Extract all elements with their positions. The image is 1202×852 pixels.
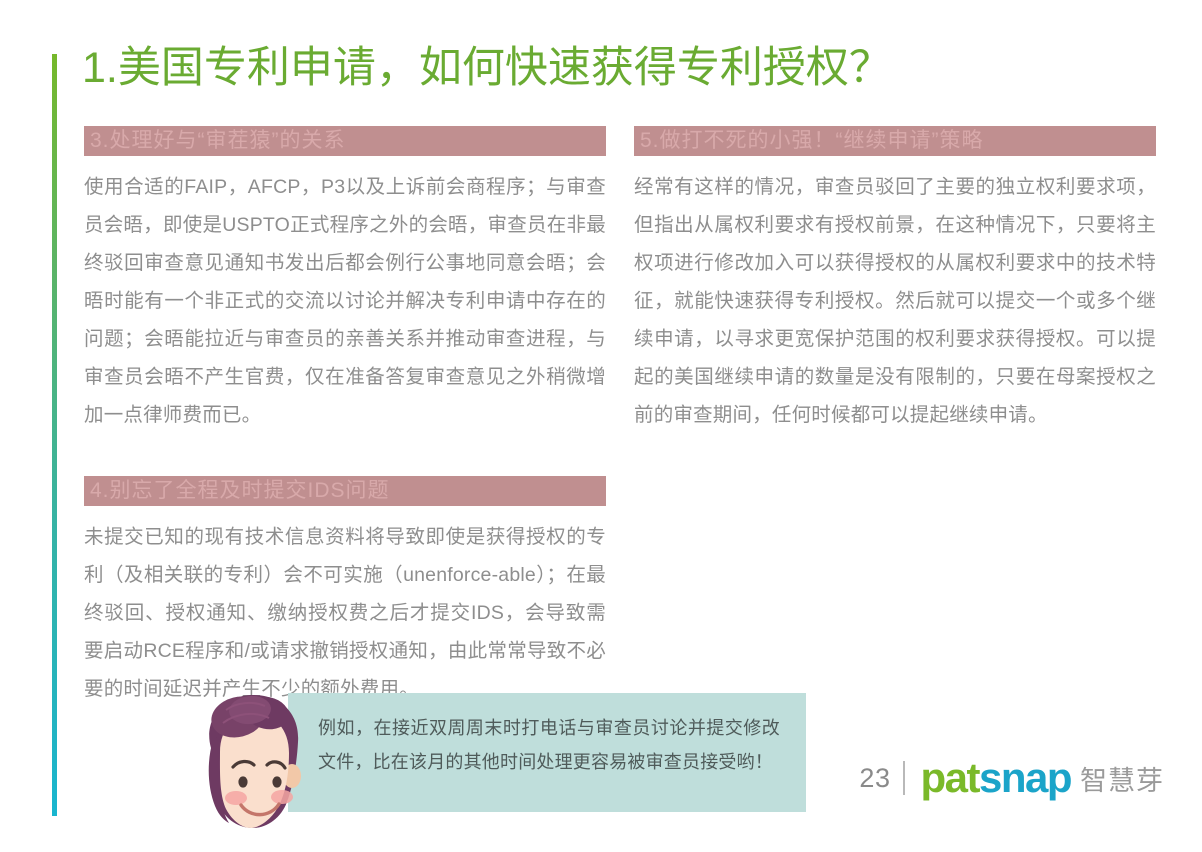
cartoon-woman-face-icon [193,690,313,845]
logo-chinese-name: 智慧芽 [1080,759,1164,798]
section-body-4: 未提交已知的现有技术信息资料将导致即使是获得授权的专利（及相关联的专利）会不可实… [84,518,606,708]
section-body-3: 使用合适的FAIP，AFCP，P3以及上诉前会商程序；与审查员会晤，即使是USP… [84,168,606,434]
footer-divider [903,761,905,795]
right-column: 5.做打不死的小强！“继续申请”策略 经常有这样的情况，审查员驳回了主要的独立权… [634,126,1156,434]
callout-bubble: 例如，在接近双周周末时打电话与审查员讨论并提交修改文件，比在该月的其他时间处理更… [288,693,806,812]
section-header-4: 4.别忘了全程及时提交IDS问题 [84,476,606,506]
logo-snap: snap [979,754,1071,801]
page-number: 23 [859,763,890,794]
callout-text: 例如，在接近双周周末时打电话与审查员讨论并提交修改文件，比在该月的其他时间处理更… [318,711,780,779]
page-title: 1.美国专利申请，如何快速获得专利授权？ [82,44,892,93]
logo-pat: pat [920,754,979,801]
section-header-3: 3.处理好与“审茬猿”的关系 [84,126,606,156]
patsnap-logo: patsnap [920,757,1071,799]
left-accent-gradient-bar [52,54,57,816]
section-body-5: 经常有这样的情况，审查员驳回了主要的独立权利要求项，但指出从属权利要求有授权前景… [634,168,1156,434]
slide-root: 1.美国专利申请，如何快速获得专利授权？ 3.处理好与“审茬猿”的关系 使用合适… [0,0,1202,852]
footer: 23 patsnap 智慧芽 [859,757,1164,799]
section-header-5: 5.做打不死的小强！“继续申请”策略 [634,126,1156,156]
left-column: 3.处理好与“审茬猿”的关系 使用合适的FAIP，AFCP，P3以及上诉前会商程… [84,126,606,708]
